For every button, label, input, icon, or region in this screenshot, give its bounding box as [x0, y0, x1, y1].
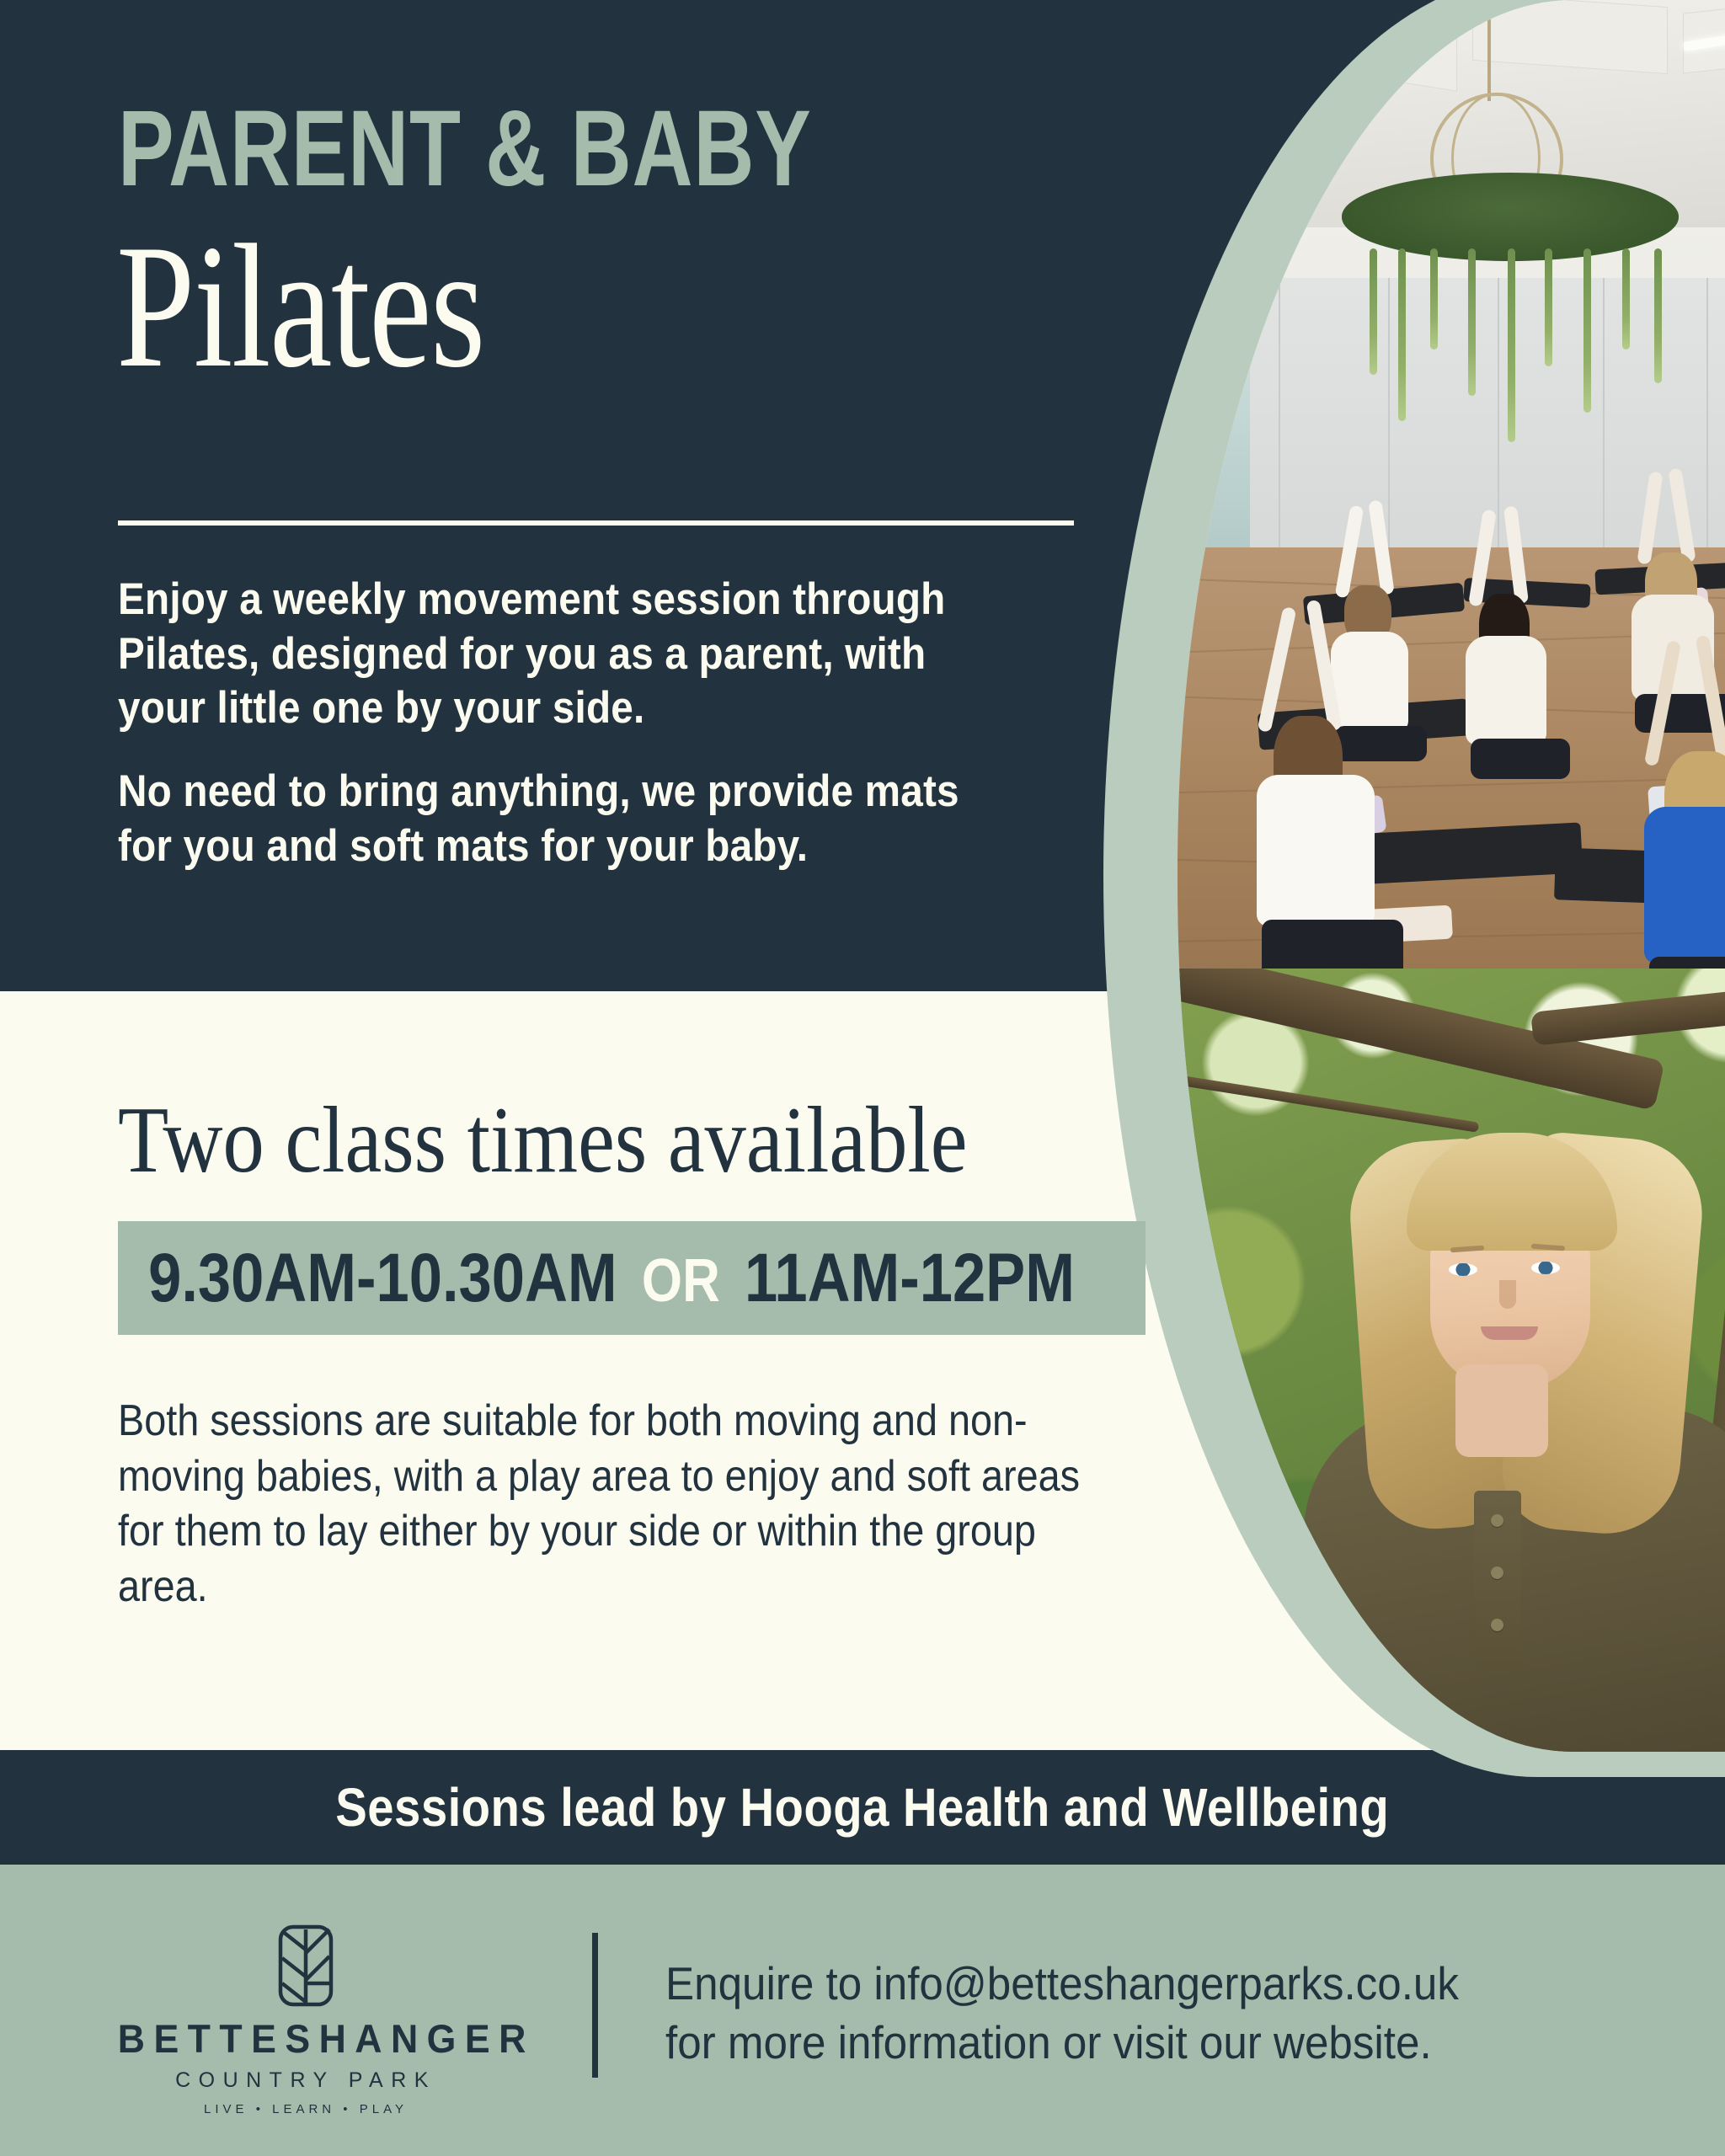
- intro-paragraph-1: Enjoy a weekly movement session through …: [118, 573, 982, 736]
- footer-divider: [592, 1933, 598, 2078]
- contact-block: Enquire to info@betteshangerparks.co.uk …: [665, 1954, 1589, 2073]
- pilates-class-photo: Parent Pathways: [1178, 0, 1725, 969]
- class-times-bar: 9.30AM-10.30AM OR 11AM-12PM: [118, 1221, 1146, 1335]
- instructor-portrait-photo: [1178, 969, 1725, 1752]
- class-time-1: 9.30AM-10.30AM: [148, 1239, 617, 1318]
- logo-tagline: LIVE • LEARN • PLAY: [108, 2103, 504, 2116]
- photo-arch: Parent Pathways: [1103, 0, 1725, 1777]
- page-title: Pilates: [116, 227, 484, 387]
- provider-lead-line: Sessions lead by Hooga Health and Wellbe…: [336, 1776, 1390, 1838]
- intro-paragraph-2: No need to bring anything, we provide ma…: [118, 765, 982, 873]
- betteshanger-logo: BETTESHANGER COUNTRY PARK LIVE • LEARN •…: [108, 1924, 504, 2116]
- logo-subtitle: COUNTRY PARK: [108, 2070, 504, 2091]
- contact-line-2: for more information or visit our websit…: [665, 2013, 1589, 2072]
- title-divider: [118, 520, 1074, 526]
- page-kicker: PARENT & BABY: [118, 99, 812, 199]
- logo-name: BETTESHANGER: [118, 2019, 494, 2058]
- arch-photo-clip: Parent Pathways: [1178, 0, 1725, 1752]
- leaf-mark-icon: [278, 1924, 334, 2007]
- contact-line-1: Enquire to info@betteshangerparks.co.uk: [665, 1954, 1589, 2013]
- schedule-heading: Two class times available: [118, 1093, 968, 1187]
- class-time-separator: OR: [642, 1246, 720, 1315]
- poster-canvas: Parent Pathways: [0, 0, 1725, 2156]
- schedule-note: Both sessions are suitable for both movi…: [118, 1394, 1096, 1614]
- class-time-2: 11AM-12PM: [745, 1239, 1075, 1318]
- provider-band: Sessions lead by Hooga Health and Wellbe…: [0, 1750, 1725, 1865]
- intro-copy: Enjoy a weekly movement session through …: [118, 573, 982, 873]
